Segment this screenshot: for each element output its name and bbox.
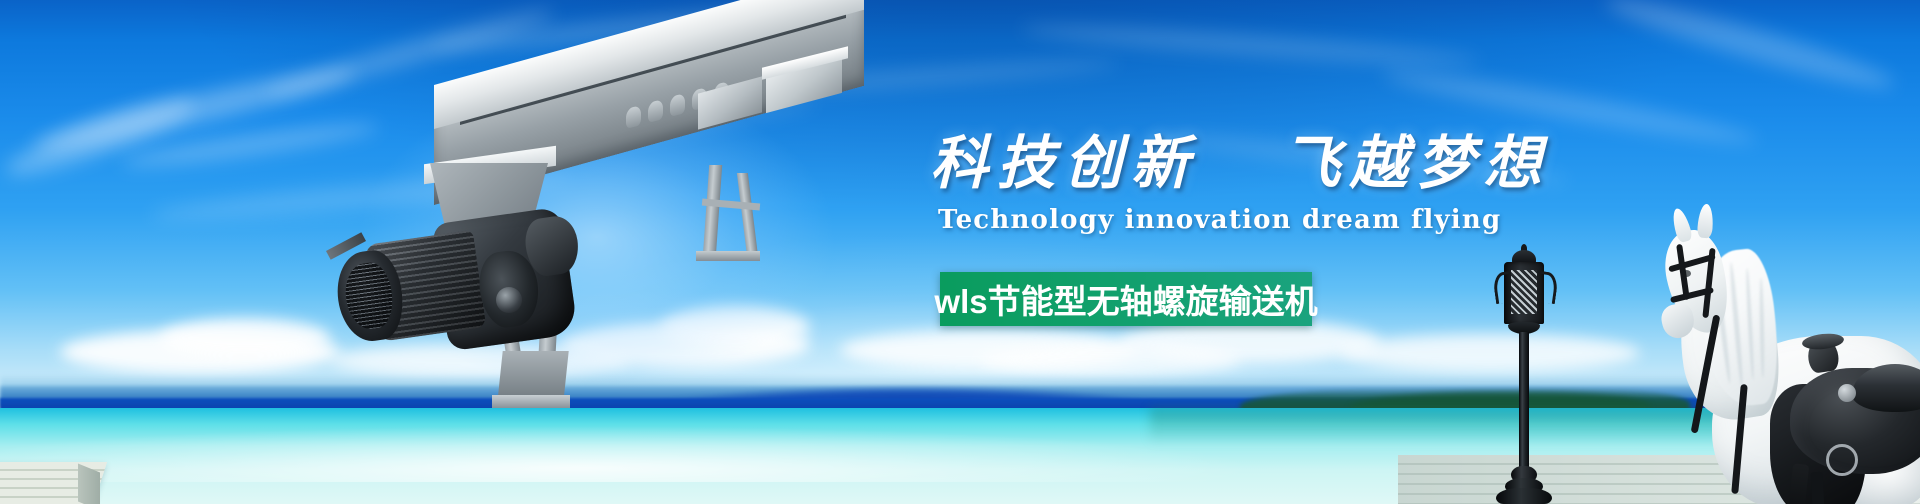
conveyor-foot-plate xyxy=(492,395,570,408)
horse-ear-right xyxy=(1697,204,1714,239)
conveyor-leg-upper xyxy=(703,165,722,257)
headline-part-1: 科技创新 xyxy=(930,129,1198,197)
saddle-conch xyxy=(1838,384,1856,402)
white-horse xyxy=(1640,188,1920,504)
product-name-label: wls节能型无轴螺旋输送机 xyxy=(934,275,1317,323)
headline-chinese: 科技创新 飞越梦想 xyxy=(930,116,1550,200)
product-name-banner[interactable]: wls节能型无轴螺旋输送机 xyxy=(940,272,1312,326)
gearbox-output-shaft xyxy=(496,287,522,313)
headline-part-2: 飞越梦想 xyxy=(1282,129,1550,197)
lamp-pole xyxy=(1519,332,1529,472)
lamp-lattice-glass xyxy=(1511,270,1537,314)
conveyor-leg-upper xyxy=(737,173,758,257)
lamp-scroll-right xyxy=(1536,271,1559,304)
subheadline-english: Technology innovation dream flying xyxy=(938,205,1501,235)
screw-conveyor-machine xyxy=(330,55,890,410)
promotional-banner: 科技创新 飞越梦想 Technology innovation dream fl… xyxy=(0,0,1920,504)
saddle-ring xyxy=(1826,444,1858,476)
lamp-post xyxy=(1486,248,1562,504)
conveyor-leg-foot xyxy=(696,251,760,261)
lamp-base-foot xyxy=(1496,488,1552,504)
